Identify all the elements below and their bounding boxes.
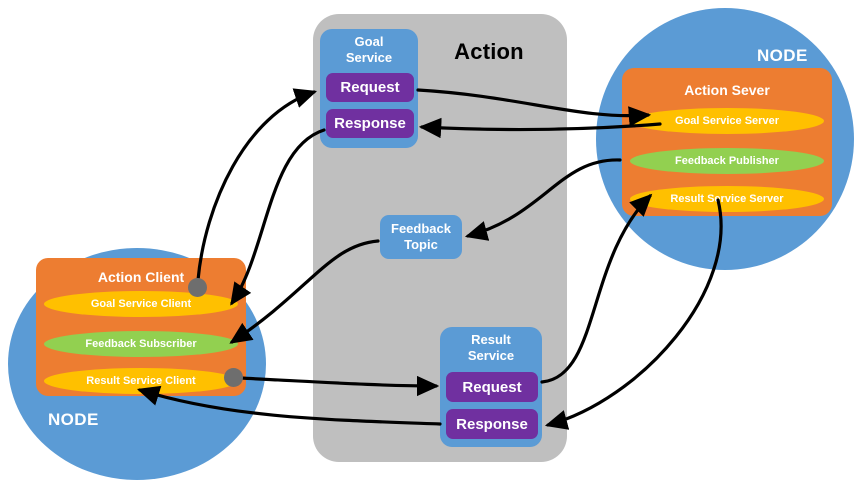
- feedback-topic-line1: Feedback: [391, 221, 451, 237]
- result-service-title-line2: Service: [468, 348, 514, 363]
- endpoint-goal-service-server[interactable]: Goal Service Server: [630, 108, 824, 134]
- goal-service-request[interactable]: Request: [326, 73, 414, 102]
- endpoint-result-service-server[interactable]: Result Service Server: [630, 186, 824, 212]
- junction-dot-result-client: [224, 368, 243, 387]
- goal-service-response[interactable]: Response: [326, 109, 414, 138]
- action-server-title: Action Sever: [622, 82, 832, 98]
- action-server-box: Action Sever Goal Service Server Feedbac…: [622, 68, 832, 216]
- action-client-title: Action Client: [36, 269, 246, 285]
- junction-dot-goal-client: [188, 278, 207, 297]
- result-service-request[interactable]: Request: [446, 372, 538, 402]
- diagram-canvas: Action NODE Action Client Goal Service C…: [0, 0, 854, 480]
- goal-service-title-line1: Goal: [355, 34, 384, 49]
- goal-service-title-line2: Service: [346, 50, 392, 65]
- arrow-goal-client-to-request: [198, 92, 314, 280]
- endpoint-result-service-client[interactable]: Result Service Client: [44, 368, 238, 394]
- endpoint-feedback-subscriber[interactable]: Feedback Subscriber: [44, 331, 238, 357]
- endpoint-feedback-publisher[interactable]: Feedback Publisher: [630, 148, 824, 174]
- client-node-label: NODE: [48, 410, 99, 430]
- server-node-label: NODE: [757, 46, 808, 66]
- result-service-title: Result Service: [440, 332, 542, 364]
- goal-service-box: Goal Service Request Response: [320, 29, 418, 148]
- result-service-box: Result Service Request Response: [440, 327, 542, 447]
- goal-service-title: Goal Service: [320, 34, 418, 66]
- result-service-response[interactable]: Response: [446, 409, 538, 439]
- action-container-label: Action: [424, 39, 554, 65]
- endpoint-goal-service-client[interactable]: Goal Service Client: [44, 291, 238, 317]
- feedback-topic-line2: Topic: [404, 237, 438, 253]
- action-client-box: Action Client Goal Service Client Feedba…: [36, 258, 246, 396]
- feedback-topic-box[interactable]: Feedback Topic: [380, 215, 462, 259]
- result-service-title-line1: Result: [471, 332, 511, 347]
